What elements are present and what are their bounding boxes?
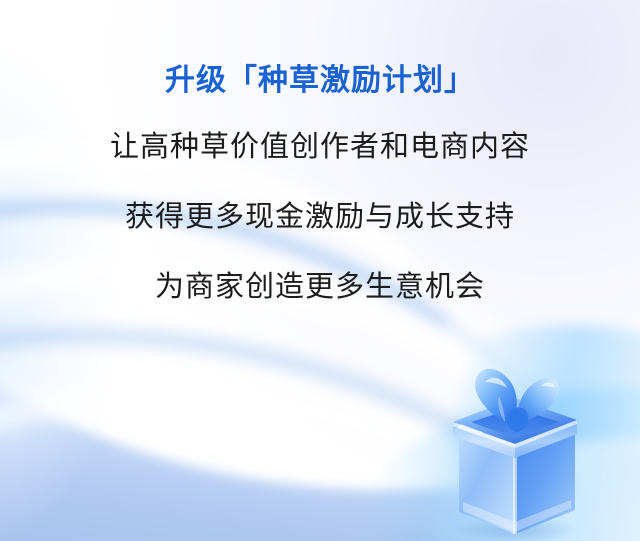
text-block: 升级「种草激励计划」 让高种草价值创作者和电商内容 获得更多现金激励与成长支持 … — [0, 62, 640, 303]
promo-poster: 升级「种草激励计划」 让高种草价值创作者和电商内容 获得更多现金激励与成长支持 … — [0, 0, 640, 541]
subline-3: 为商家创造更多生意机会 — [0, 271, 640, 303]
headline: 升级「种草激励计划」 — [0, 62, 640, 100]
gift-box-graphic — [443, 362, 593, 541]
subline-1: 让高种草价值创作者和电商内容 — [0, 131, 640, 163]
subline-2: 获得更多现金激励与成长支持 — [0, 201, 640, 233]
